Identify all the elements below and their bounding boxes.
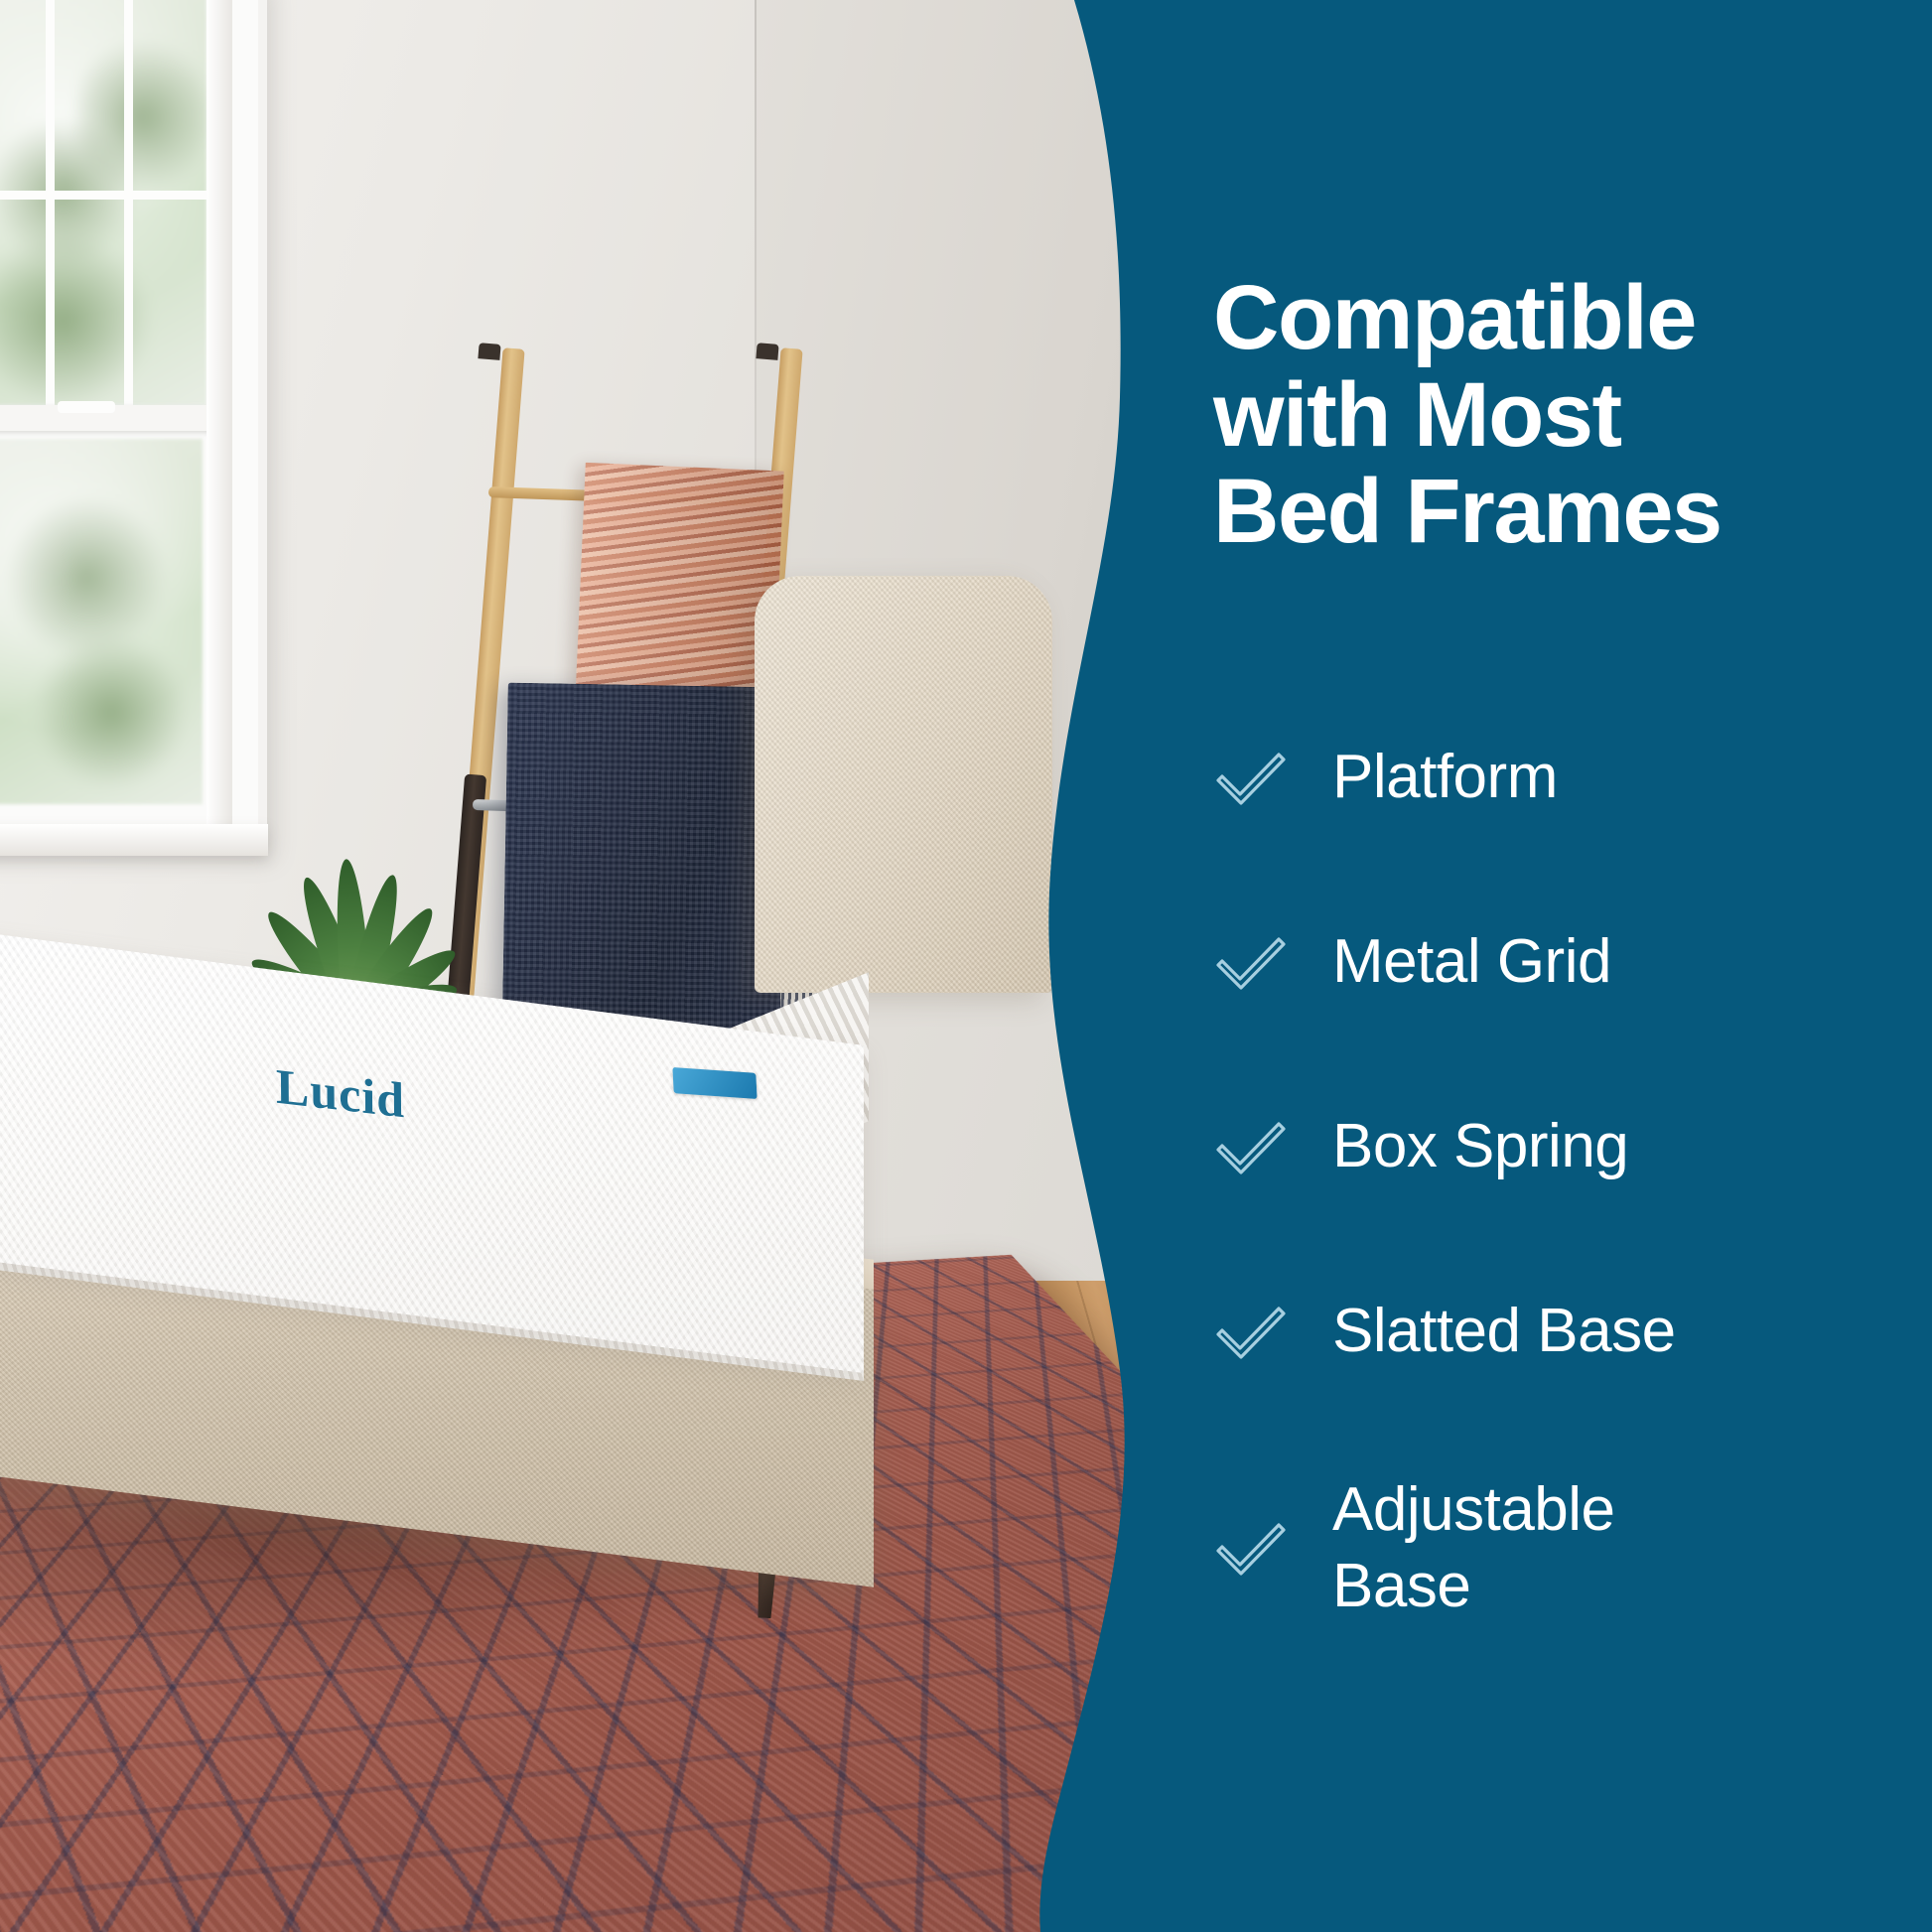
window-latch [58, 401, 115, 413]
headline-line-3: Bed Frames [1213, 464, 1868, 561]
page-title: Compatible with Most Bed Frames [1213, 270, 1868, 561]
check-icon [1213, 1301, 1289, 1362]
bedroom-photo: Lucid [0, 0, 1172, 1932]
panel-content: Compatible with Most Bed Frames Platform… [1213, 0, 1908, 1932]
marketing-image: Lucid Compatible with Most Bed Frames Pl… [0, 0, 1932, 1932]
window-muntin [124, 0, 133, 405]
window-glass-lower [0, 439, 203, 804]
feature-item-metal-grid: Metal Grid [1213, 870, 1908, 1054]
headline-line-2: with Most [1213, 367, 1868, 465]
ladder-cap-right [756, 343, 778, 360]
feature-label: Slatted Base [1332, 1293, 1676, 1370]
check-icon [1213, 1116, 1289, 1177]
check-icon [1213, 747, 1289, 808]
window [0, 0, 267, 854]
feature-label: Platform [1332, 739, 1558, 816]
feature-item-box-spring: Box Spring [1213, 1054, 1908, 1239]
window-jamb [207, 0, 232, 854]
feature-label: Metal Grid [1332, 923, 1611, 1001]
window-muntin [0, 191, 207, 200]
feature-list: Platform Metal Grid Box Spring Slatted B… [1213, 685, 1908, 1672]
ladder-cap-left [478, 343, 500, 360]
window-muntin [46, 0, 55, 405]
feature-item-adjustable-base: Adjustable Base [1213, 1424, 1908, 1672]
feature-label: Adjustable Base [1332, 1471, 1615, 1625]
feature-item-slatted-base: Slatted Base [1213, 1239, 1908, 1424]
feature-label: Box Spring [1332, 1108, 1628, 1185]
headboard [755, 576, 1052, 993]
feature-item-platform: Platform [1213, 685, 1908, 870]
check-icon [1213, 931, 1289, 993]
window-glass-upper [0, 0, 207, 405]
check-icon [1213, 1517, 1289, 1579]
headline-line-1: Compatible [1213, 270, 1868, 367]
